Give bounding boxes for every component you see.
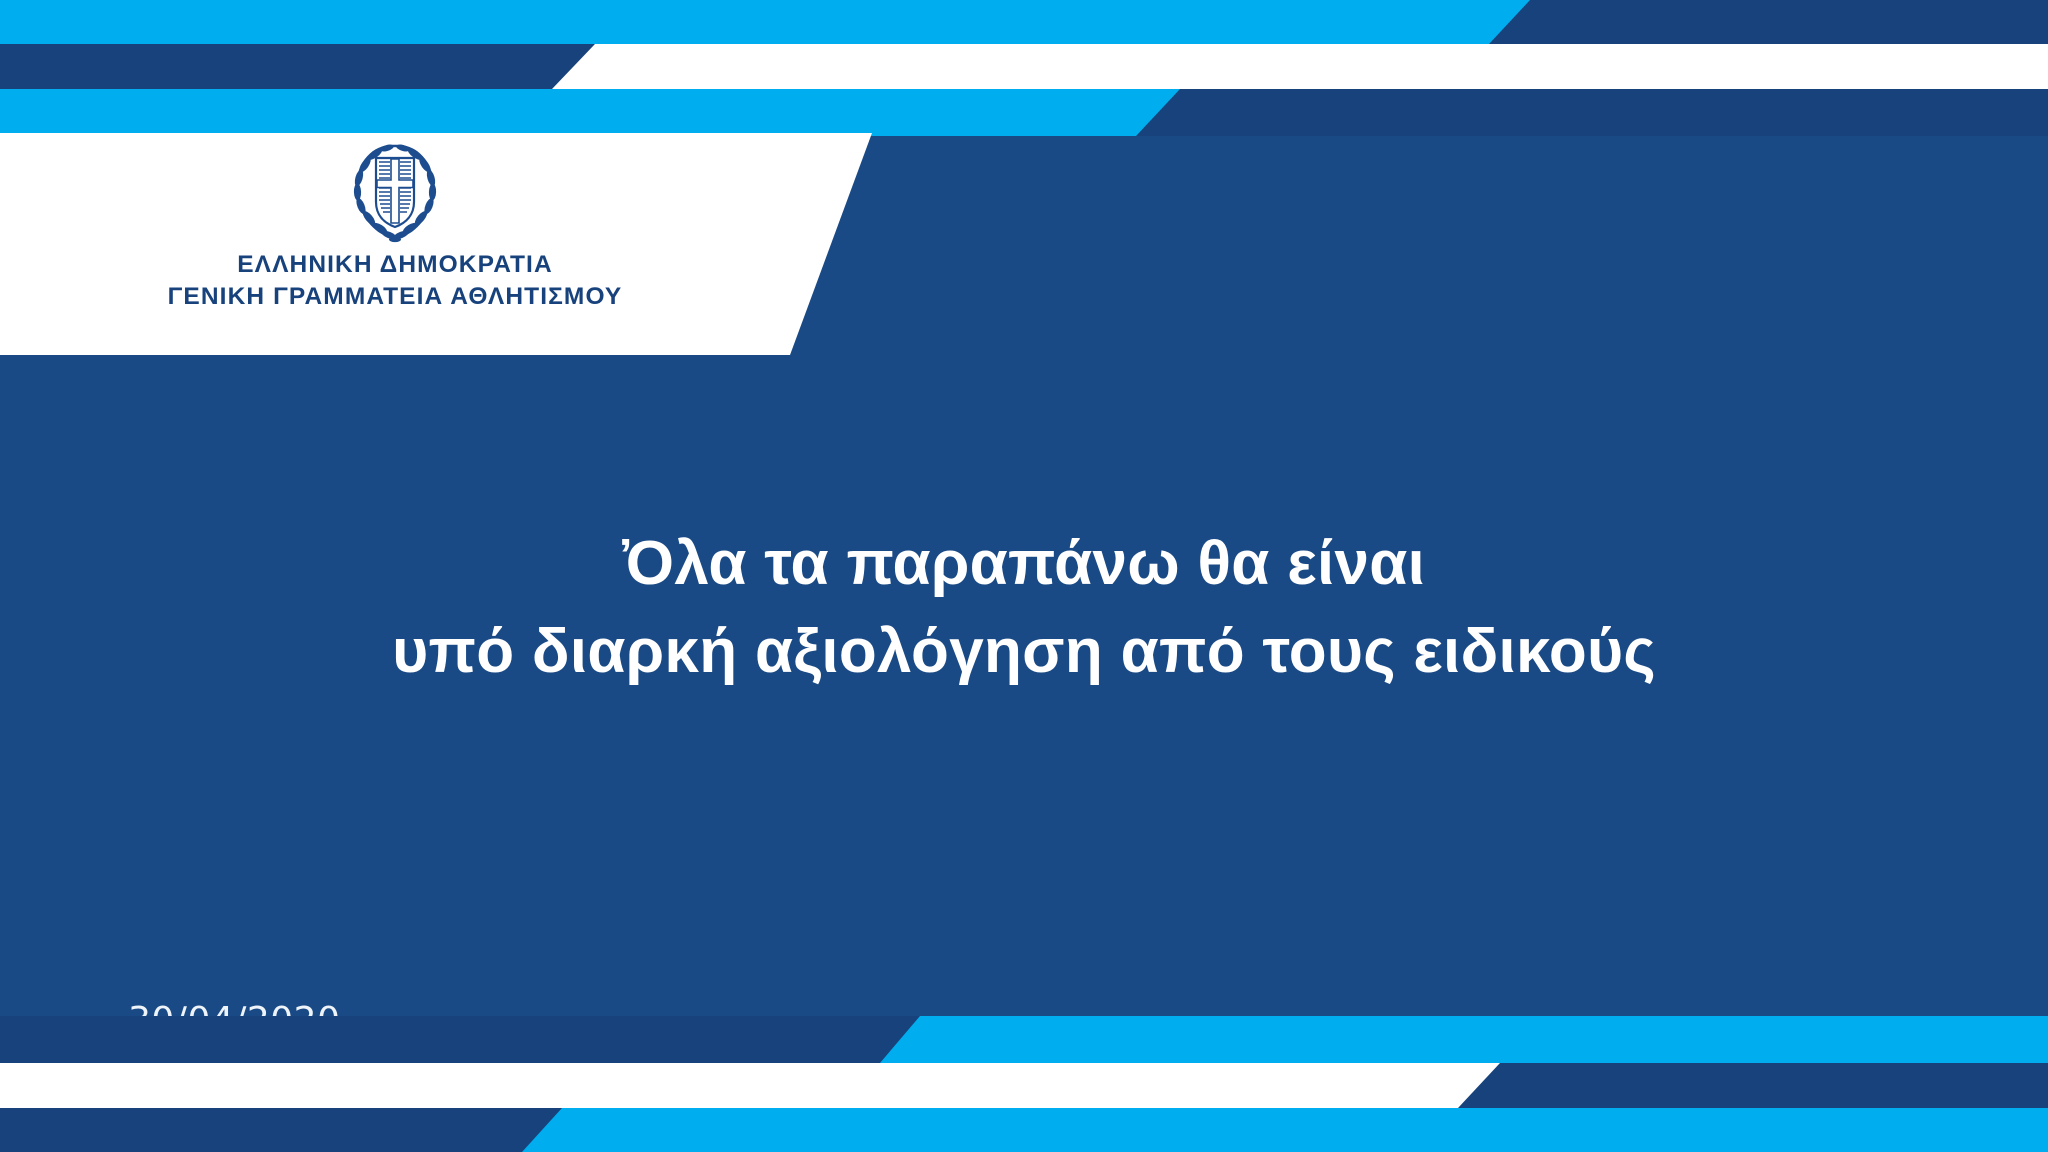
logo-text-block: ΕΛΛΗΝΙΚΗ ΔΗΜΟΚΡΑΤΙΑ ΓΕΝΙΚΗ ΓΡΑΜΜΑΤΕΙΑ ΑΘ…	[168, 249, 623, 314]
top-stripe-band	[0, 0, 2048, 136]
logo-line-2: ΓΕΝΙΚΗ ΓΡΑΜΜΑΤΕΙΑ ΑΘΛΗΤΙΣΜΟΥ	[168, 281, 623, 313]
slide-title: Ὀλα τα παραπάνω θα είναι υπό διαρκή αξιο…	[0, 520, 2048, 696]
bottom-stripe-band	[0, 1016, 2048, 1152]
slide-canvas: ΕΛΛΗΝΙΚΗ ΔΗΜΟΚΡΑΤΙΑ ΓΕΝΙΚΗ ΓΡΑΜΜΑΤΕΙΑ ΑΘ…	[0, 0, 2048, 1152]
title-line-1: Ὀλα τα παραπάνω θα είναι	[0, 520, 2048, 608]
greek-coat-of-arms-icon	[349, 139, 441, 243]
logo-panel: ΕΛΛΗΝΙΚΗ ΔΗΜΟΚΡΑΤΙΑ ΓΕΝΙΚΗ ΓΡΑΜΜΑΤΕΙΑ ΑΘ…	[0, 133, 900, 355]
logo-content: ΕΛΛΗΝΙΚΗ ΔΗΜΟΚΡΑΤΙΑ ΓΕΝΙΚΗ ΓΡΑΜΜΑΤΕΙΑ ΑΘ…	[0, 133, 790, 355]
title-line-2: υπό διαρκή αξιολόγηση από τους ειδικούς	[0, 608, 2048, 696]
logo-line-1: ΕΛΛΗΝΙΚΗ ΔΗΜΟΚΡΑΤΙΑ	[168, 249, 623, 281]
